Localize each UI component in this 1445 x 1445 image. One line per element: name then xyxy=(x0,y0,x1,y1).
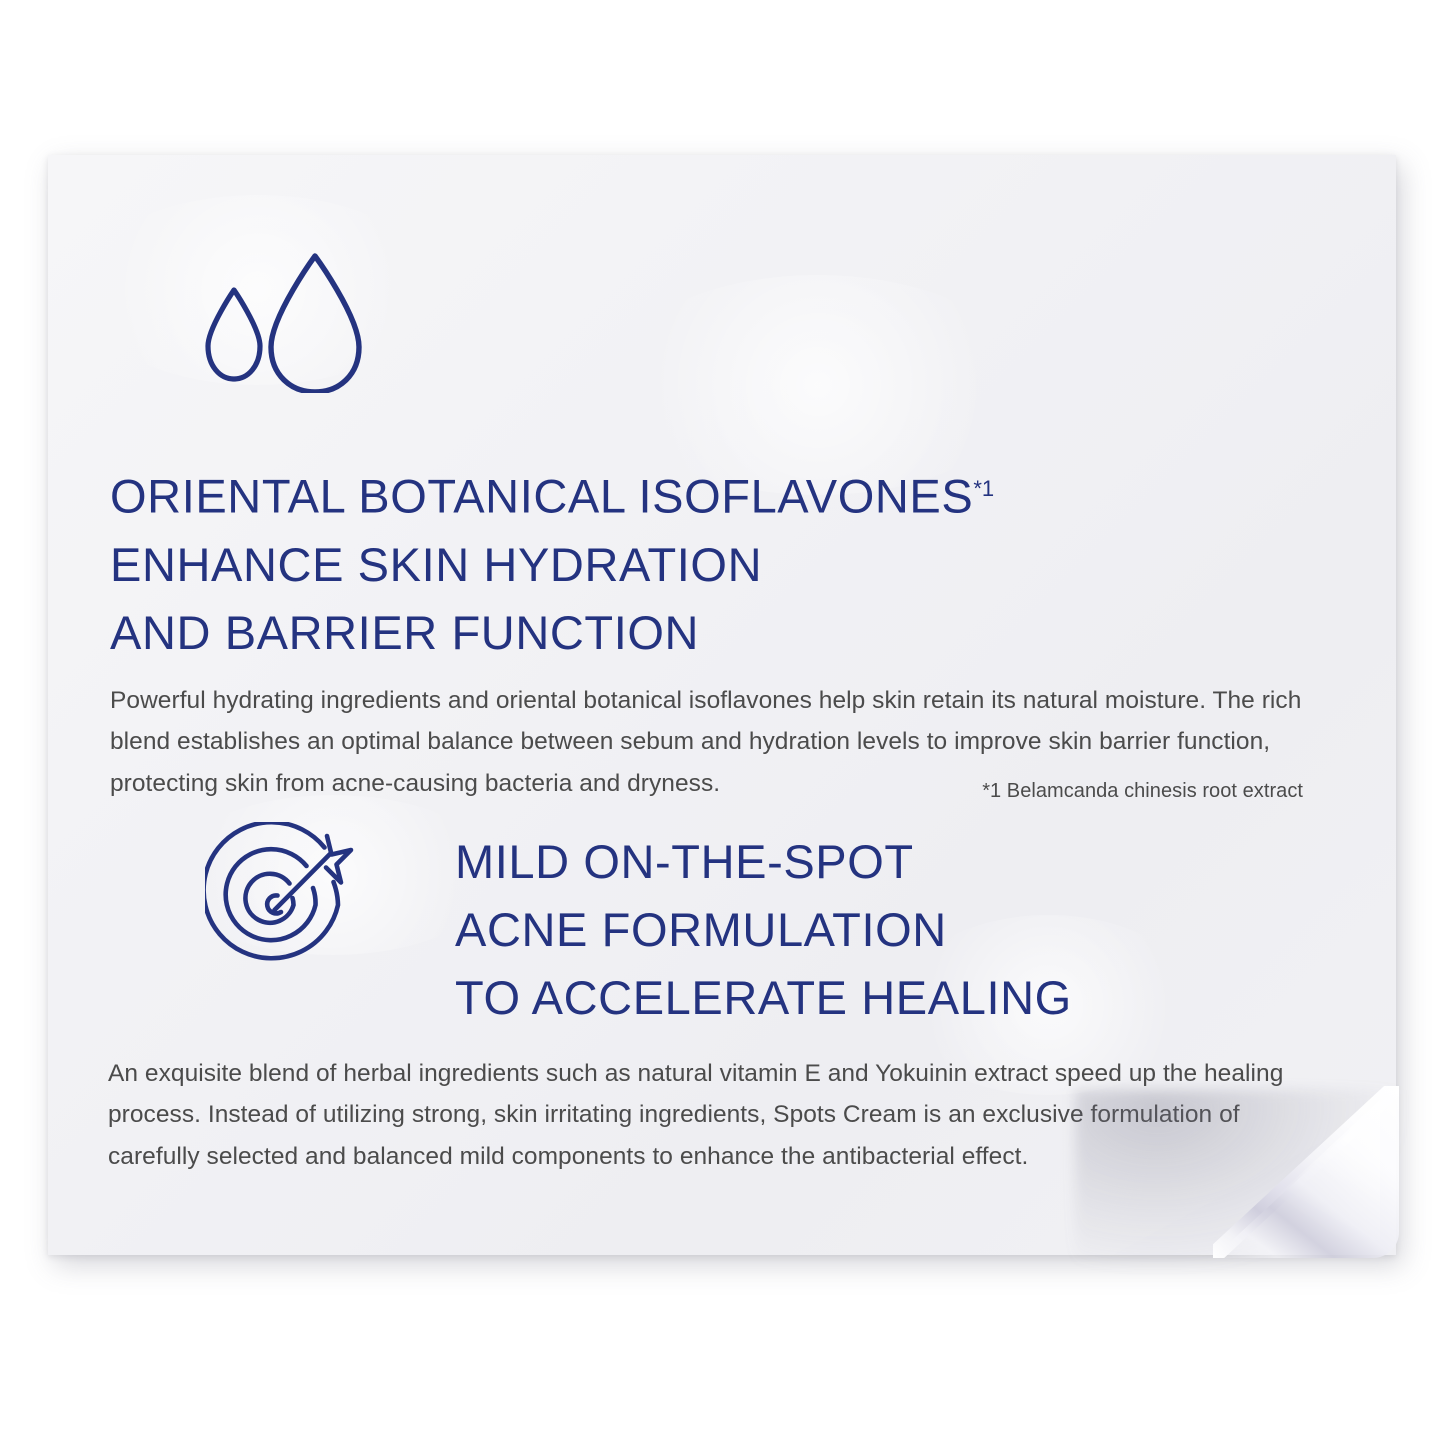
headline-acne: MILD ON-THE-SPOT ACNE FORMULATION TO ACC… xyxy=(455,828,1072,1032)
headline-line: MILD ON-THE-SPOT xyxy=(455,828,1072,896)
headline-line: ORIENTAL BOTANICAL ISOFLAVONES*1 xyxy=(110,455,994,531)
water-droplets-icon xyxy=(198,248,376,398)
footnote-isoflavones: *1 Belamcanda chinesis root extract xyxy=(0,777,1303,805)
headline-hydration: ORIENTAL BOTANICAL ISOFLAVONES*1 ENHANCE… xyxy=(110,455,994,667)
headline-superscript: *1 xyxy=(973,476,994,501)
headline-line: ENHANCE SKIN HYDRATION xyxy=(110,531,994,599)
headline-line: AND BARRIER FUNCTION xyxy=(110,599,994,667)
body-copy-acne: An exquisite blend of herbal ingredients… xyxy=(108,1053,1318,1178)
headline-line: TO ACCELERATE HEALING xyxy=(455,964,1072,1032)
headline-line: ACNE FORMULATION xyxy=(455,896,1072,964)
product-info-card: ORIENTAL BOTANICAL ISOFLAVONES*1 ENHANCE… xyxy=(0,0,1445,1445)
target-with-arrow-icon xyxy=(205,822,365,985)
